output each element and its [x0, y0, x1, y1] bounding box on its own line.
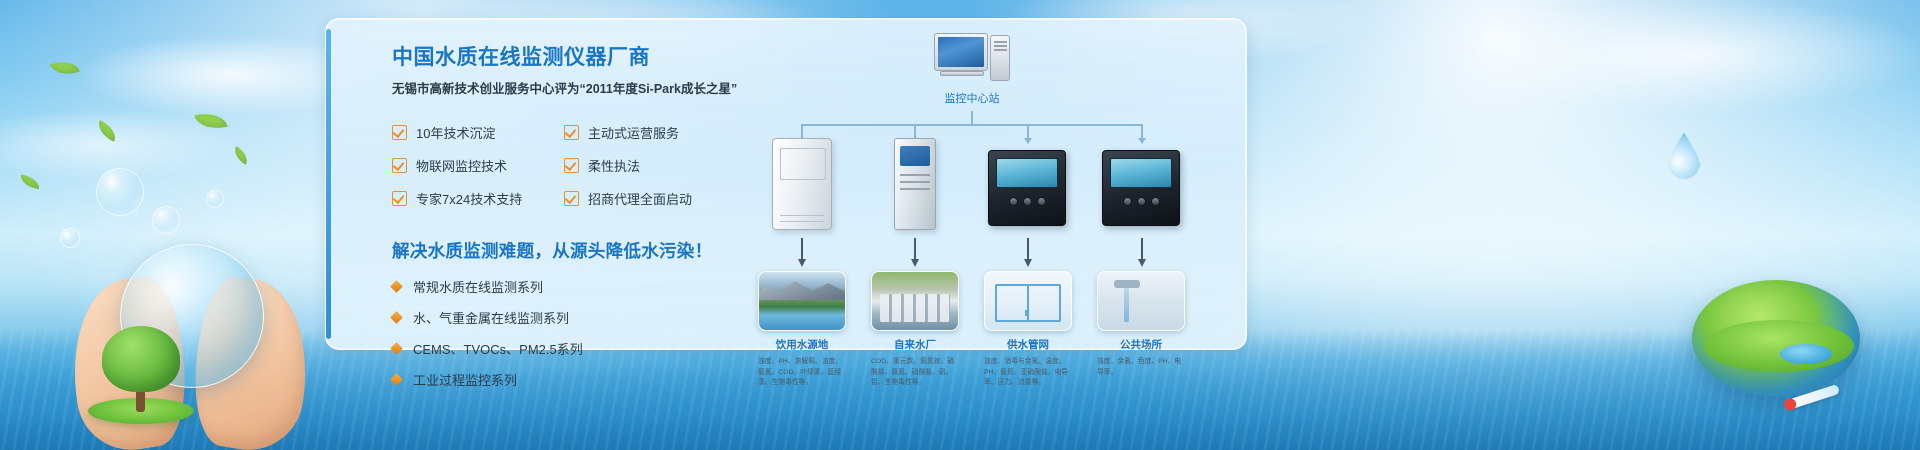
check-icon: [392, 125, 407, 140]
feature-label: 专家7x24技术支持: [416, 189, 522, 208]
scenario-photo-pipe-network: [984, 271, 1072, 331]
connector-vertical: [971, 111, 973, 125]
tree-foliage: [102, 326, 180, 392]
controller-button: [1137, 197, 1146, 206]
product-line-list: 常规水质在线监测系列 水、气重金属在线监测系列 CEMS、TVOCs、PM2.5…: [392, 277, 752, 389]
down-arrow-icon: [801, 238, 803, 260]
down-arrow-icon: [1141, 238, 1143, 260]
product-line-item: 常规水质在线监测系列: [392, 277, 752, 296]
feature-label: 10年技术沉淀: [416, 123, 495, 142]
page-title: 中国水质在线监测仪器厂商: [392, 45, 752, 70]
banner-stage: 中国水质在线监测仪器厂商 无锡市高新技术创业服务中心评为“2011年度Si-Pa…: [0, 0, 1920, 450]
scenario-title: 公共场所: [1097, 337, 1185, 352]
scenario-title: 饮用水源地: [758, 337, 846, 352]
controller-buttons: [996, 197, 1058, 206]
controller-buttons: [1110, 197, 1172, 206]
connector-horizontal: [801, 124, 1141, 126]
monitoring-center-label: 监控中心站: [906, 90, 1038, 106]
scenario-card[interactable]: 供水管网 浊度、消毒与余氯、温度、PH、氨氮、亚硝酸盐、电导率、压力、流量等。: [984, 271, 1072, 389]
analyzer-cabinet-icon: [772, 138, 832, 230]
product-line-item: 工业过程监控系列: [392, 370, 752, 389]
controller-button: [1037, 197, 1046, 206]
scenario-desc: 浊度、余氯、色度、PH、电导率。: [1097, 357, 1185, 378]
monitor-screen: [938, 37, 984, 67]
content-card: 中国水质在线监测仪器厂商 无锡市高新技术创业服务中心评为“2011年度Si-Pa…: [325, 18, 1247, 350]
device-row: [756, 138, 1226, 238]
scenario-photo-reservoir: [758, 271, 846, 331]
analyzer-rack-icon: [894, 138, 936, 230]
product-line-item: CEMS、TVOCs、PM2.5系列: [392, 339, 752, 358]
earth-grass: [1704, 320, 1854, 372]
check-icon: [392, 158, 407, 173]
feature-label: 招商代理全面启动: [588, 189, 692, 208]
hands-holding-globe: [70, 250, 310, 450]
check-icon: [392, 191, 407, 206]
controller-button: [1009, 197, 1018, 206]
connector-drop: [801, 124, 803, 139]
feature-label: 物联网监控技术: [416, 156, 507, 175]
arrow-row: [756, 238, 1226, 272]
controller-button: [1151, 197, 1160, 206]
feature-item: 专家7x24技术支持: [392, 189, 564, 208]
pc-tower-icon: [990, 35, 1010, 81]
connector-drop: [914, 124, 916, 139]
earth-lake: [1780, 344, 1832, 364]
product-line-label: 工业过程监控系列: [413, 370, 517, 389]
bubble-icon: [60, 228, 80, 248]
diamond-bullet-icon: [390, 343, 403, 356]
connector-drop: [1027, 124, 1029, 139]
check-icon: [564, 158, 579, 173]
system-diagram: 监控中心站: [756, 33, 1226, 338]
scenario-row: 饮用水源地 浊度、PH、溶解氧、浊度、氨氮、COD、叶绿素、蓝绿藻、生物毒性等。…: [756, 271, 1226, 371]
product-line-item: 水、气重金属在线监测系列: [392, 308, 752, 327]
scenario-desc: COD、重元数、氨氮效、硝酸盐、氨氮、硝酸盐、矾、铝、生物毒性等。: [871, 357, 959, 389]
scenario-card[interactable]: 饮用水源地 浊度、PH、溶解氧、浊度、氨氮、COD、叶绿素、蓝绿藻、生物毒性等。: [758, 271, 846, 389]
diamond-bullet-icon: [390, 281, 403, 294]
scenario-photo-waterworks: [871, 271, 959, 331]
device-controller-2: [1102, 150, 1180, 226]
page-subtitle: 无锡市高新技术创业服务中心评为“2011年度Si-Park成长之星”: [392, 81, 752, 97]
device-cabinet-white: [772, 138, 832, 230]
bubble-icon: [206, 190, 224, 208]
scenario-card[interactable]: 自来水厂 COD、重元数、氨氮效、硝酸盐、氨氮、硝酸盐、矾、铝、生物毒性等。: [871, 271, 959, 389]
down-arrow-icon: [914, 238, 916, 260]
scenario-photo-public-place: [1097, 271, 1185, 331]
connector-drop: [1141, 124, 1143, 139]
scenario-card[interactable]: 公共场所 浊度、余氯、色度、PH、电导率。: [1097, 271, 1185, 378]
diamond-bullet-icon: [390, 312, 403, 325]
controller-button: [1123, 197, 1132, 206]
controller-button: [1023, 197, 1032, 206]
controller-screen: [1110, 158, 1172, 188]
feature-label: 柔性执法: [588, 156, 640, 175]
feature-item: 招商代理全面启动: [564, 189, 752, 208]
scenario-title: 自来水厂: [871, 337, 959, 352]
product-line-label: 常规水质在线监测系列: [413, 277, 543, 296]
section-heading: 解决水质监测难题，从源头降低水污染！: [392, 238, 752, 263]
check-icon: [564, 125, 579, 140]
controller-display-icon: [1102, 150, 1180, 226]
device-controller-1: [988, 150, 1066, 226]
feature-label: 主动式运营服务: [588, 123, 679, 142]
product-line-label: CEMS、TVOCs、PM2.5系列: [413, 339, 583, 358]
bubble-icon: [96, 168, 144, 216]
device-cabinet-grey: [894, 138, 936, 230]
feature-item: 主动式运营服务: [564, 123, 752, 142]
bubble-icon: [152, 206, 180, 234]
feature-item: 柔性执法: [564, 156, 752, 175]
scenario-desc: 浊度、PH、溶解氧、浊度、氨氮、COD、叶绿素、蓝绿藻、生物毒性等。: [758, 357, 846, 389]
text-column: 中国水质在线监测仪器厂商 无锡市高新技术创业服务中心评为“2011年度Si-Pa…: [392, 45, 752, 389]
controller-display-icon: [988, 150, 1066, 226]
diamond-bullet-icon: [390, 374, 403, 387]
controller-screen: [996, 158, 1058, 188]
product-line-label: 水、气重金属在线监测系列: [413, 308, 569, 327]
scenario-title: 供水管网: [984, 337, 1072, 352]
feature-item: 10年技术沉淀: [392, 123, 564, 142]
monitoring-center-computer-icon: [934, 33, 1010, 85]
keyboard-icon: [940, 71, 984, 76]
feature-list: 10年技术沉淀 主动式运营服务 物联网监控技术 柔性执法 专家7x24技术支持: [392, 123, 752, 208]
feature-item: 物联网监控技术: [392, 156, 564, 175]
scenario-desc: 浊度、消毒与余氯、温度、PH、氨氮、亚硝酸盐、电导率、压力、流量等。: [984, 357, 1072, 389]
down-arrow-icon: [1027, 238, 1029, 260]
check-icon: [564, 191, 579, 206]
monitor-icon: [934, 33, 988, 71]
